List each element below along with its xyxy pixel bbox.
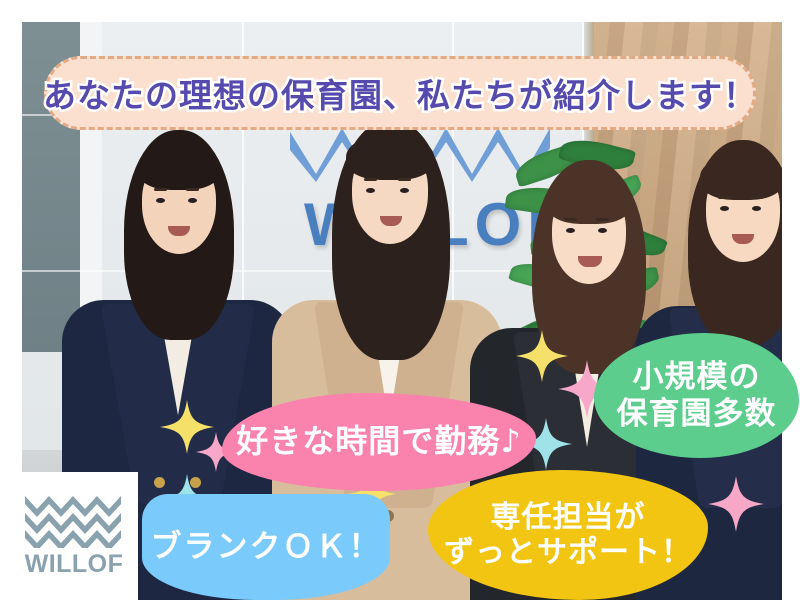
bubble-yellow-text: 専任担当が ずっとサポート！	[444, 500, 692, 571]
bubble-yellow-line1: 専任担当が	[444, 500, 692, 535]
bubble-green-line1: 小規模の	[617, 359, 777, 396]
ad-banner-root: WILLOF	[0, 0, 800, 600]
sparkle-icon	[708, 476, 764, 532]
bubble-yellow-line2: ずっとサポート！	[444, 535, 692, 570]
willof-logo: WILLOF	[10, 472, 138, 600]
headline-banner: あなたの理想の保育園、私たちが紹介します！	[44, 56, 756, 130]
bubble-pink-line1: 好きな時間で勤務♪	[236, 423, 521, 461]
willof-zigzag-icon	[25, 494, 123, 548]
bubble-blank-ok: ブランクＯＫ！	[142, 494, 390, 600]
bubble-small-nurseries: 小規模の 保育園多数	[594, 333, 799, 458]
headline-text: あなたの理想の保育園、私たちが紹介します！	[43, 69, 757, 117]
bubble-green-line2: 保育園多数	[617, 396, 777, 433]
bubble-blue-line1: ブランクＯＫ！	[151, 529, 382, 566]
willof-logo-text: WILLOF	[25, 550, 124, 579]
bubble-green-text: 小規模の 保育園多数	[617, 359, 777, 432]
